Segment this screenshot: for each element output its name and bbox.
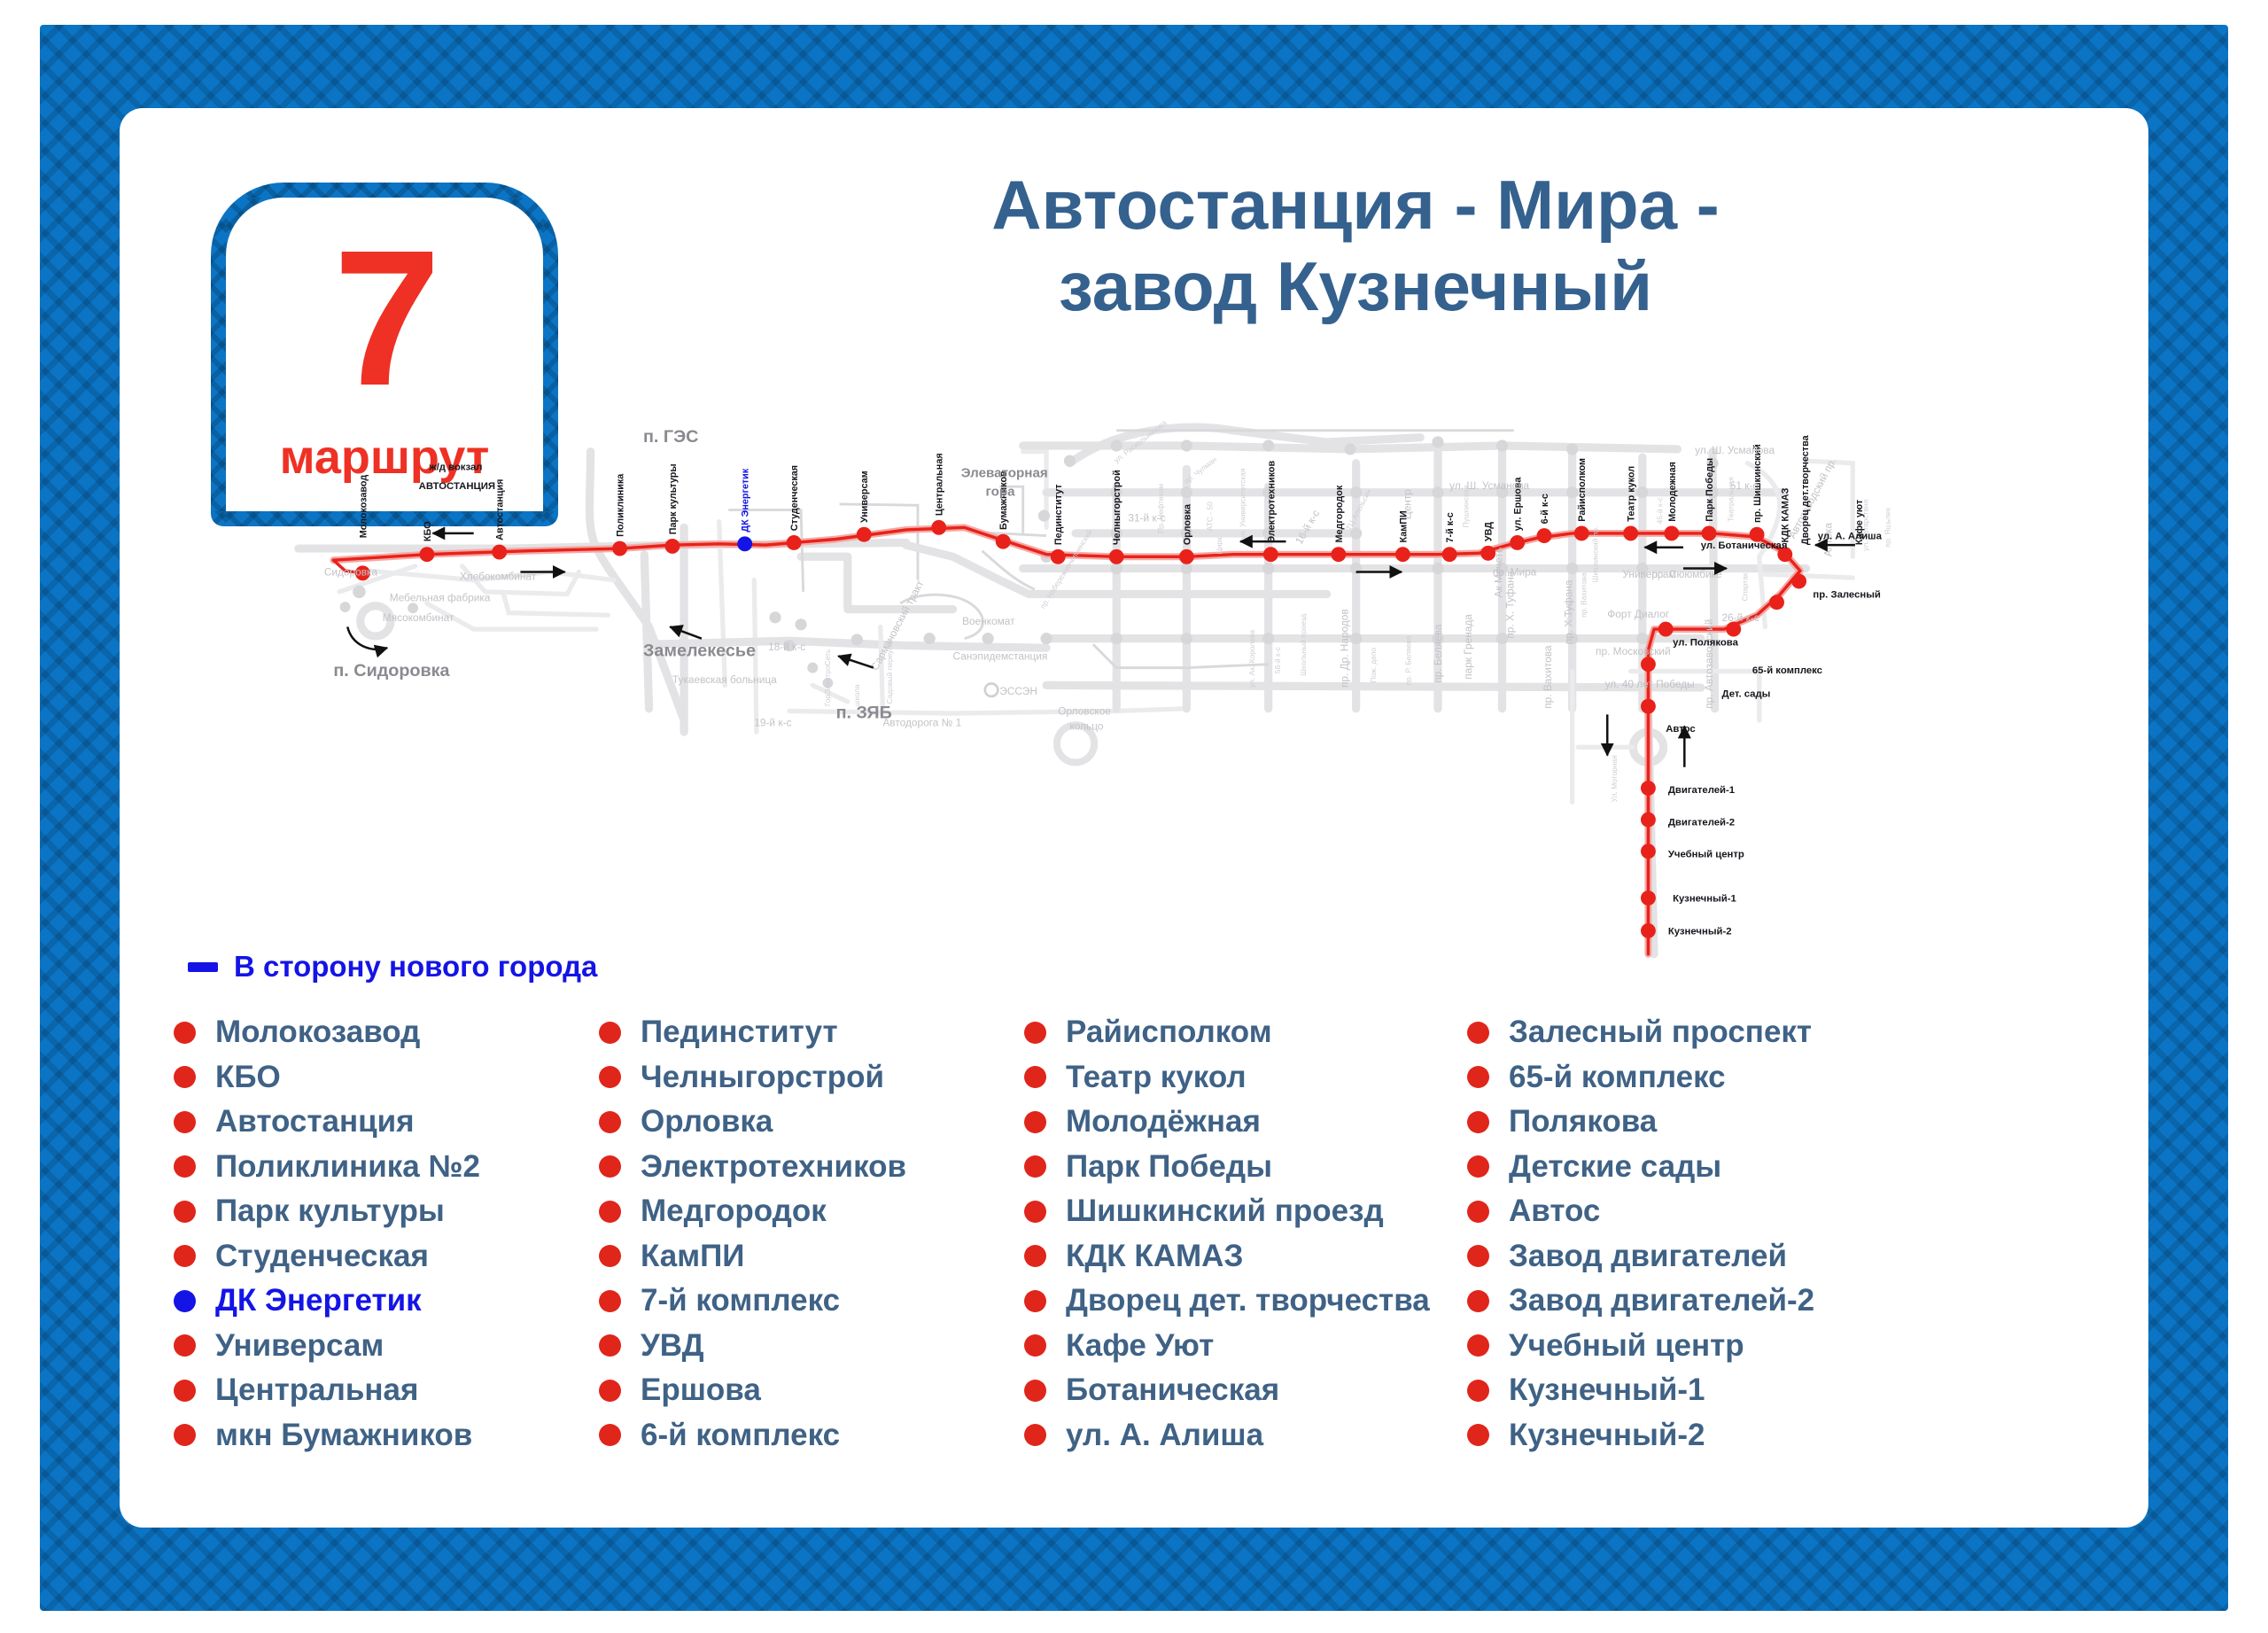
svg-text:Молодежная: Молодежная (1667, 462, 1678, 522)
svg-text:Пр. Нефтехим: Пр. Нефтехим (1156, 484, 1165, 533)
legend-direction: В сторону нового города (188, 950, 597, 984)
stop-label: 7-й комплекс (641, 1283, 840, 1318)
stop-label: Кузнечный-2 (1509, 1418, 1705, 1453)
stop-dot-icon (174, 1022, 196, 1044)
map-poi-labels: Сидоровка Хлебокомбинат Мебельная фабрик… (324, 418, 1892, 803)
stop-label: Полякова (1509, 1104, 1657, 1139)
svg-text:Шишкинский пр.: Шишкинский пр. (1591, 526, 1600, 583)
list-item[interactable]: Медгородок (599, 1189, 1024, 1234)
list-item[interactable]: Райисполком (1024, 1010, 1467, 1055)
stop-label: ДК Энергетик (215, 1283, 422, 1318)
stop-label: Центральная (215, 1372, 418, 1408)
stop-dot-icon (599, 1380, 621, 1402)
svg-text:УВД: УВД (1484, 522, 1495, 541)
svg-text:Тукаевская больница: Тукаевская больница (672, 673, 777, 686)
stop-dot-icon (1024, 1290, 1046, 1312)
svg-text:Челныгорстрой: Челныгорстрой (1112, 470, 1122, 545)
stop-label: КБО (215, 1060, 281, 1095)
svg-text:Поликлиника: Поликлиника (616, 473, 626, 537)
stop-dot-icon (174, 1424, 196, 1446)
stop-label: КДК КАМАЗ (1066, 1239, 1243, 1274)
svg-text:6-й к-с: 6-й к-с (1540, 494, 1550, 524)
list-item[interactable]: КДК КАМАЗ (1024, 1234, 1467, 1279)
svg-text:ул. Ш. Усманова: ул. Ш. Усманова (1695, 444, 1775, 456)
svg-text:16-й к-с: 16-й к-с (1293, 508, 1322, 547)
svg-text:ул. Университетская: ул. Университетская (1238, 468, 1247, 539)
stop-label: Театр кукол (1066, 1060, 1247, 1095)
svg-text:Молокозавод: Молокозавод (358, 475, 369, 539)
svg-text:7-й к-с: 7-й к-с (1445, 512, 1456, 542)
title-line-1: Автостанция - Мира - (991, 166, 1719, 244)
list-item[interactable]: Поликлиника №2 (174, 1145, 599, 1190)
stop-dot-icon (599, 1290, 621, 1312)
stop-dot-icon (1467, 1424, 1489, 1446)
svg-text:п. Сидоровка: п. Сидоровка (333, 661, 450, 680)
svg-text:Райисполком: Райисполком (1577, 458, 1588, 522)
svg-text:гора: гора (985, 485, 1015, 500)
list-item[interactable]: Завод двигателей-2 (1467, 1279, 1910, 1324)
svg-text:кольцо: кольцо (1069, 720, 1103, 733)
stop-dot-icon (1467, 1155, 1489, 1178)
stop-label: Медгородок (641, 1194, 827, 1229)
list-item[interactable]: Парк культуры (174, 1189, 599, 1234)
stop-dot-icon (1024, 1201, 1046, 1223)
svg-text:Орловка: Орловка (1182, 503, 1192, 545)
svg-text:Цирк: Цирк (1215, 537, 1223, 555)
stop-dot-icon (599, 1201, 621, 1223)
svg-text:ЭССЭН: ЭССЭН (999, 685, 1037, 697)
stop-dot-icon (1024, 1380, 1046, 1402)
stop-dot-icon (1024, 1245, 1046, 1267)
list-item[interactable]: Электротехников (599, 1145, 1024, 1190)
stop-label: Автостанция (215, 1104, 415, 1139)
list-item[interactable]: Автостанция (174, 1100, 599, 1145)
stop-dot-icon (1467, 1022, 1489, 1044)
list-item[interactable]: Завод двигателей (1467, 1234, 1910, 1279)
stop-dot-icon (1467, 1201, 1489, 1223)
list-item[interactable]: ул. А. Алиша (1024, 1413, 1467, 1458)
svg-text:Форт Диалог: Форт Диалог (1607, 608, 1669, 620)
svg-text:Орловское: Орловское (1058, 704, 1111, 717)
stop-label: Орловка (641, 1104, 773, 1139)
list-item[interactable]: Автос (1467, 1189, 1910, 1234)
svg-text:Автодорога № 1: Автодорога № 1 (882, 717, 961, 729)
list-item[interactable]: Учебный центр (1467, 1324, 1910, 1369)
stop-label: Залесный проспект (1509, 1015, 1812, 1050)
list-item[interactable]: Залесный проспект (1467, 1010, 1910, 1055)
list-item-highlighted[interactable]: ДК Энергетик (174, 1279, 599, 1324)
svg-text:Садовый переулок: Садовый переулок (885, 638, 894, 704)
stop-label: Парк культуры (215, 1194, 445, 1229)
list-item[interactable]: Кузнечный-1 (1467, 1368, 1910, 1413)
svg-text:Кузнечный-2: Кузнечный-2 (1668, 926, 1732, 937)
stop-dot-icon (174, 1155, 196, 1178)
list-item[interactable]: Ершова (599, 1368, 1024, 1413)
svg-text:Военкомат: Военкомат (962, 615, 1015, 627)
svg-text:Мясокомбинат: Мясокомбинат (383, 611, 454, 624)
stop-label: Молодёжная (1066, 1104, 1261, 1139)
stop-label: Кафе Уют (1066, 1328, 1214, 1364)
svg-text:Ак Мечеть: Ак Мечеть (1493, 548, 1505, 598)
stop-dot-icon (1024, 1066, 1046, 1088)
list-item[interactable]: Детские сады (1467, 1145, 1910, 1190)
route-number: 7 (226, 222, 543, 416)
list-item[interactable]: Молодёжная (1024, 1100, 1467, 1145)
svg-text:пр. Др. Народов: пр. Др. Народов (1338, 609, 1350, 688)
svg-text:Медгородок: Медгородок (1334, 485, 1345, 542)
stop-label: УВД (641, 1328, 704, 1364)
stop-label: 6-й комплекс (641, 1418, 840, 1453)
legend-direction-label: В сторону нового города (234, 950, 597, 984)
stop-dot-icon (1467, 1245, 1489, 1267)
list-item[interactable]: Молокозавод (174, 1010, 599, 1055)
svg-text:АВТОСТАНЦИЯ: АВТОСТАНЦИЯ (419, 481, 495, 492)
svg-text:26-й к-с: 26-й к-с (1722, 611, 1759, 624)
stop-label: Студенческая (215, 1239, 429, 1274)
stop-label: Автос (1509, 1194, 1600, 1229)
stop-dot-icon (599, 1334, 621, 1357)
stop-label: ул. А. Алиша (1066, 1418, 1263, 1453)
title-line-2: завод Кузнечный (868, 245, 1843, 327)
svg-text:ГорЭлектроСеть: ГорЭлектроСеть (823, 649, 832, 706)
svg-text:Дворец дет.творчества: Дворец дет.творчества (1800, 434, 1811, 545)
stop-label: Детские сады (1509, 1149, 1721, 1185)
svg-text:Спартак: Спартак (1741, 572, 1750, 601)
stop-label: Райисполком (1066, 1015, 1272, 1050)
route-map[interactable]: .rd{stroke:#e3e3e5;stroke-width:7;fill:n… (120, 416, 2148, 966)
stop-dot-icon (1024, 1334, 1046, 1357)
svg-text:КБО: КБО (423, 521, 433, 541)
list-item[interactable]: Универсам (174, 1324, 599, 1369)
svg-text:19-й к-с: 19-й к-с (754, 717, 791, 729)
list-item[interactable]: УВД (599, 1324, 1024, 1369)
stop-dot-icon (174, 1111, 196, 1133)
svg-text:ул. Полякова: ул. Полякова (1673, 638, 1738, 649)
svg-text:Центральная: Центральная (935, 453, 945, 516)
list-item[interactable]: КБО (174, 1055, 599, 1100)
svg-text:Элеваторная: Элеваторная (961, 466, 1048, 481)
svg-text:Пединститут: Пединститут (1053, 484, 1064, 545)
stop-dot-icon (599, 1155, 621, 1178)
svg-text:Двигателей-1: Двигателей-1 (1668, 785, 1735, 796)
map-inline-labels: ж/д вокзал АВТОСТАНЦИЯ (419, 463, 495, 492)
svg-text:Центр: Центр (1402, 489, 1414, 519)
stop-dot-icon (1024, 1424, 1046, 1446)
stop-label: Учебный центр (1509, 1328, 1744, 1364)
svg-text:Ул. Моторная: Ул. Моторная (1610, 755, 1619, 802)
svg-text:Школьный проезд: Школьный проезд (1299, 614, 1308, 676)
list-item[interactable]: Парк Победы (1024, 1145, 1467, 1190)
svg-text:п. ГЭС: п. ГЭС (643, 427, 698, 447)
svg-text:пр. Вахитова: пр. Вахитова (1580, 572, 1588, 618)
svg-text:Театральная: Театральная (1727, 477, 1736, 521)
stop-label: Молокозавод (215, 1015, 420, 1050)
svg-text:Сидоровка: Сидоровка (324, 565, 378, 578)
svg-text:65-й комплекс: 65-й комплекс (1752, 665, 1822, 676)
stop-dot-icon (1024, 1111, 1046, 1133)
stop-label: Пединститут (641, 1015, 838, 1050)
svg-text:пр. Московский: пр. Московский (1596, 645, 1671, 657)
list-item[interactable]: мкн Бумажников (174, 1413, 599, 1458)
stop-label: Электротехников (641, 1149, 906, 1185)
svg-text:Кафе уют: Кафе уют (1854, 500, 1865, 545)
stop-dot-icon (174, 1201, 196, 1223)
svg-text:Замелекесье: Замелекесье (643, 641, 756, 660)
svg-text:пр. Автозаводский: пр. Автозаводский (1703, 619, 1715, 709)
svg-text:Дет. сады: Дет. сады (1722, 689, 1771, 700)
list-item[interactable]: Кузнечный-2 (1467, 1413, 1910, 1458)
list-item[interactable]: Челныгорстрой (599, 1055, 1024, 1100)
list-item[interactable]: 7-й комплекс (599, 1279, 1024, 1324)
svg-text:ул. Ак. Королева: ул. Ак. Королева (1247, 630, 1256, 688)
svg-text:Двигателей-2: Двигателей-2 (1668, 818, 1735, 828)
svg-text:45-й к-с: 45-й к-с (1655, 497, 1664, 524)
stop-label: 65-й комплекс (1509, 1060, 1726, 1095)
svg-text:Мебельная фабрика: Мебельная фабрика (390, 591, 491, 603)
list-item[interactable]: 6-й комплекс (599, 1413, 1024, 1458)
svg-text:Универсам: Универсам (859, 470, 870, 523)
list-item[interactable]: Орловка (599, 1100, 1024, 1145)
stop-label: мкн Бумажников (215, 1418, 472, 1453)
stop-dot-icon (174, 1290, 196, 1312)
svg-text:ДК Энергетик: ДК Энергетик (741, 468, 751, 532)
svg-text:пр. Сююмбике: пр. Сююмбике (1651, 568, 1722, 580)
list-item[interactable]: Кафе Уют (1024, 1324, 1467, 1369)
svg-text:АТС - 50: АТС - 50 (1205, 502, 1214, 531)
stop-dot-icon (174, 1380, 196, 1402)
stop-dot-icon (1467, 1334, 1489, 1357)
stop-label: Челныгорстрой (641, 1060, 884, 1095)
stop-dot-icon (1467, 1290, 1489, 1312)
list-item[interactable]: Шишкинский проезд (1024, 1189, 1467, 1234)
stop-label: Ершова (641, 1372, 761, 1408)
stop-label: Парк Победы (1066, 1149, 1272, 1185)
stop-dot-icon (1024, 1022, 1046, 1044)
svg-text:пр. Яшьлек: пр. Яшьлек (1883, 508, 1891, 548)
stop-list: Молокозавод КБО Автостанция Поликлиника … (174, 1010, 2078, 1458)
svg-text:Театр кукол: Театр кукол (1627, 466, 1637, 522)
svg-text:пр. Х. Туфана: пр. Х. Туфана (1504, 571, 1517, 638)
stop-label: КамПИ (641, 1239, 744, 1274)
stop-dot-icon (599, 1066, 621, 1088)
list-item[interactable]: Театр кукол (1024, 1055, 1467, 1100)
list-item[interactable]: КамПИ (599, 1234, 1024, 1279)
stop-label: Кузнечный-1 (1509, 1372, 1705, 1408)
stop-label: Завод двигателей-2 (1509, 1283, 1814, 1318)
svg-text:Автос: Автос (1666, 724, 1695, 735)
stop-dot-icon (599, 1245, 621, 1267)
page-title: Автостанция - Мира - завод Кузнечный (868, 164, 1843, 327)
svg-text:Пож. депо: Пож. депо (1369, 648, 1378, 683)
svg-text:58-й к-с: 58-й к-с (1273, 647, 1282, 673)
stop-column-1: Молокозавод КБО Автостанция Поликлиника … (174, 1010, 599, 1458)
svg-text:18-й к-с: 18-й к-с (768, 641, 805, 653)
stop-dot-icon (174, 1334, 196, 1357)
legend-dash-icon (188, 962, 218, 972)
svg-text:Студенческая: Студенческая (789, 465, 800, 531)
svg-text:Парк Победы: Парк Победы (1705, 458, 1715, 522)
route-map-svg[interactable]: .rd{stroke:#e3e3e5;stroke-width:7;fill:n… (120, 416, 2148, 966)
svg-text:ул. А. Алиша: ул. А. Алиша (1818, 532, 1883, 542)
svg-text:Электротехников: Электротехников (1266, 461, 1277, 543)
list-item[interactable]: 65-й комплекс (1467, 1055, 1910, 1100)
svg-text:пр. Вахитова: пр. Вахитова (1542, 645, 1554, 709)
stop-dot-icon (174, 1066, 196, 1088)
stop-column-4: Залесный проспект 65-й комплекс Полякова… (1467, 1010, 1910, 1458)
stop-dot-icon (1467, 1111, 1489, 1133)
list-item[interactable]: Центральная (174, 1368, 599, 1413)
svg-text:Пушкинская: Пушкинская (1461, 486, 1470, 527)
list-item[interactable]: Ботаническая (1024, 1368, 1467, 1413)
stop-dot-icon (1467, 1380, 1489, 1402)
svg-text:Парк культуры: Парк культуры (668, 463, 679, 534)
stop-dot-icon (174, 1245, 196, 1267)
stop-label: Дворец дет. творчества (1066, 1283, 1430, 1318)
svg-text:парк Гренада: парк Гренада (1462, 614, 1474, 680)
stop-label: Шишкинский проезд (1066, 1194, 1384, 1229)
svg-text:пр. Х.Туфана: пр. Х.Туфана (1563, 579, 1575, 644)
svg-text:пр. Беляева: пр. Беляева (1432, 624, 1444, 683)
svg-text:ж/д вокзал: ж/д вокзал (429, 463, 483, 473)
map-roads (299, 427, 1852, 954)
list-item[interactable]: Полякова (1467, 1100, 1910, 1145)
svg-text:Учебный центр: Учебный центр (1668, 849, 1744, 859)
stop-label: Ботаническая (1066, 1372, 1279, 1408)
svg-text:школа: школа (852, 684, 861, 706)
stop-label: Поликлиника №2 (215, 1149, 480, 1185)
svg-text:ул. 40 лет Победы: ул. 40 лет Победы (1605, 678, 1695, 690)
stop-dot-icon (599, 1022, 621, 1044)
stop-column-2: Пединститут Челныгорстрой Орловка Электр… (599, 1010, 1024, 1458)
stop-dot-icon (1024, 1155, 1046, 1178)
list-item[interactable]: Пединститут (599, 1010, 1024, 1055)
stop-column-3: Райисполком Театр кукол Молодёжная Парк … (1024, 1010, 1467, 1458)
stop-dot-icon (1467, 1066, 1489, 1088)
list-item[interactable]: Дворец дет. творчества (1024, 1279, 1467, 1324)
svg-text:Кузнечный-1: Кузнечный-1 (1673, 893, 1736, 904)
svg-text:пр. Р. Беляева: пр. Р. Беляева (1404, 635, 1413, 685)
stop-dot-icon (599, 1111, 621, 1133)
stop-label: Завод двигателей (1509, 1239, 1787, 1274)
svg-text:Автостанция: Автостанция (495, 479, 506, 540)
list-item[interactable]: Студенческая (174, 1234, 599, 1279)
svg-text:ул. Ботаническая: ул. Ботаническая (1701, 540, 1788, 551)
svg-text:пр. Залесный: пр. Залесный (1813, 589, 1880, 600)
stop-label: Универсам (215, 1328, 384, 1364)
stop-dot-icon (599, 1424, 621, 1446)
svg-text:Санэпидемстанция: Санэпидемстанция (953, 649, 1048, 662)
svg-text:Сармановский тракт: Сармановский тракт (868, 578, 927, 673)
